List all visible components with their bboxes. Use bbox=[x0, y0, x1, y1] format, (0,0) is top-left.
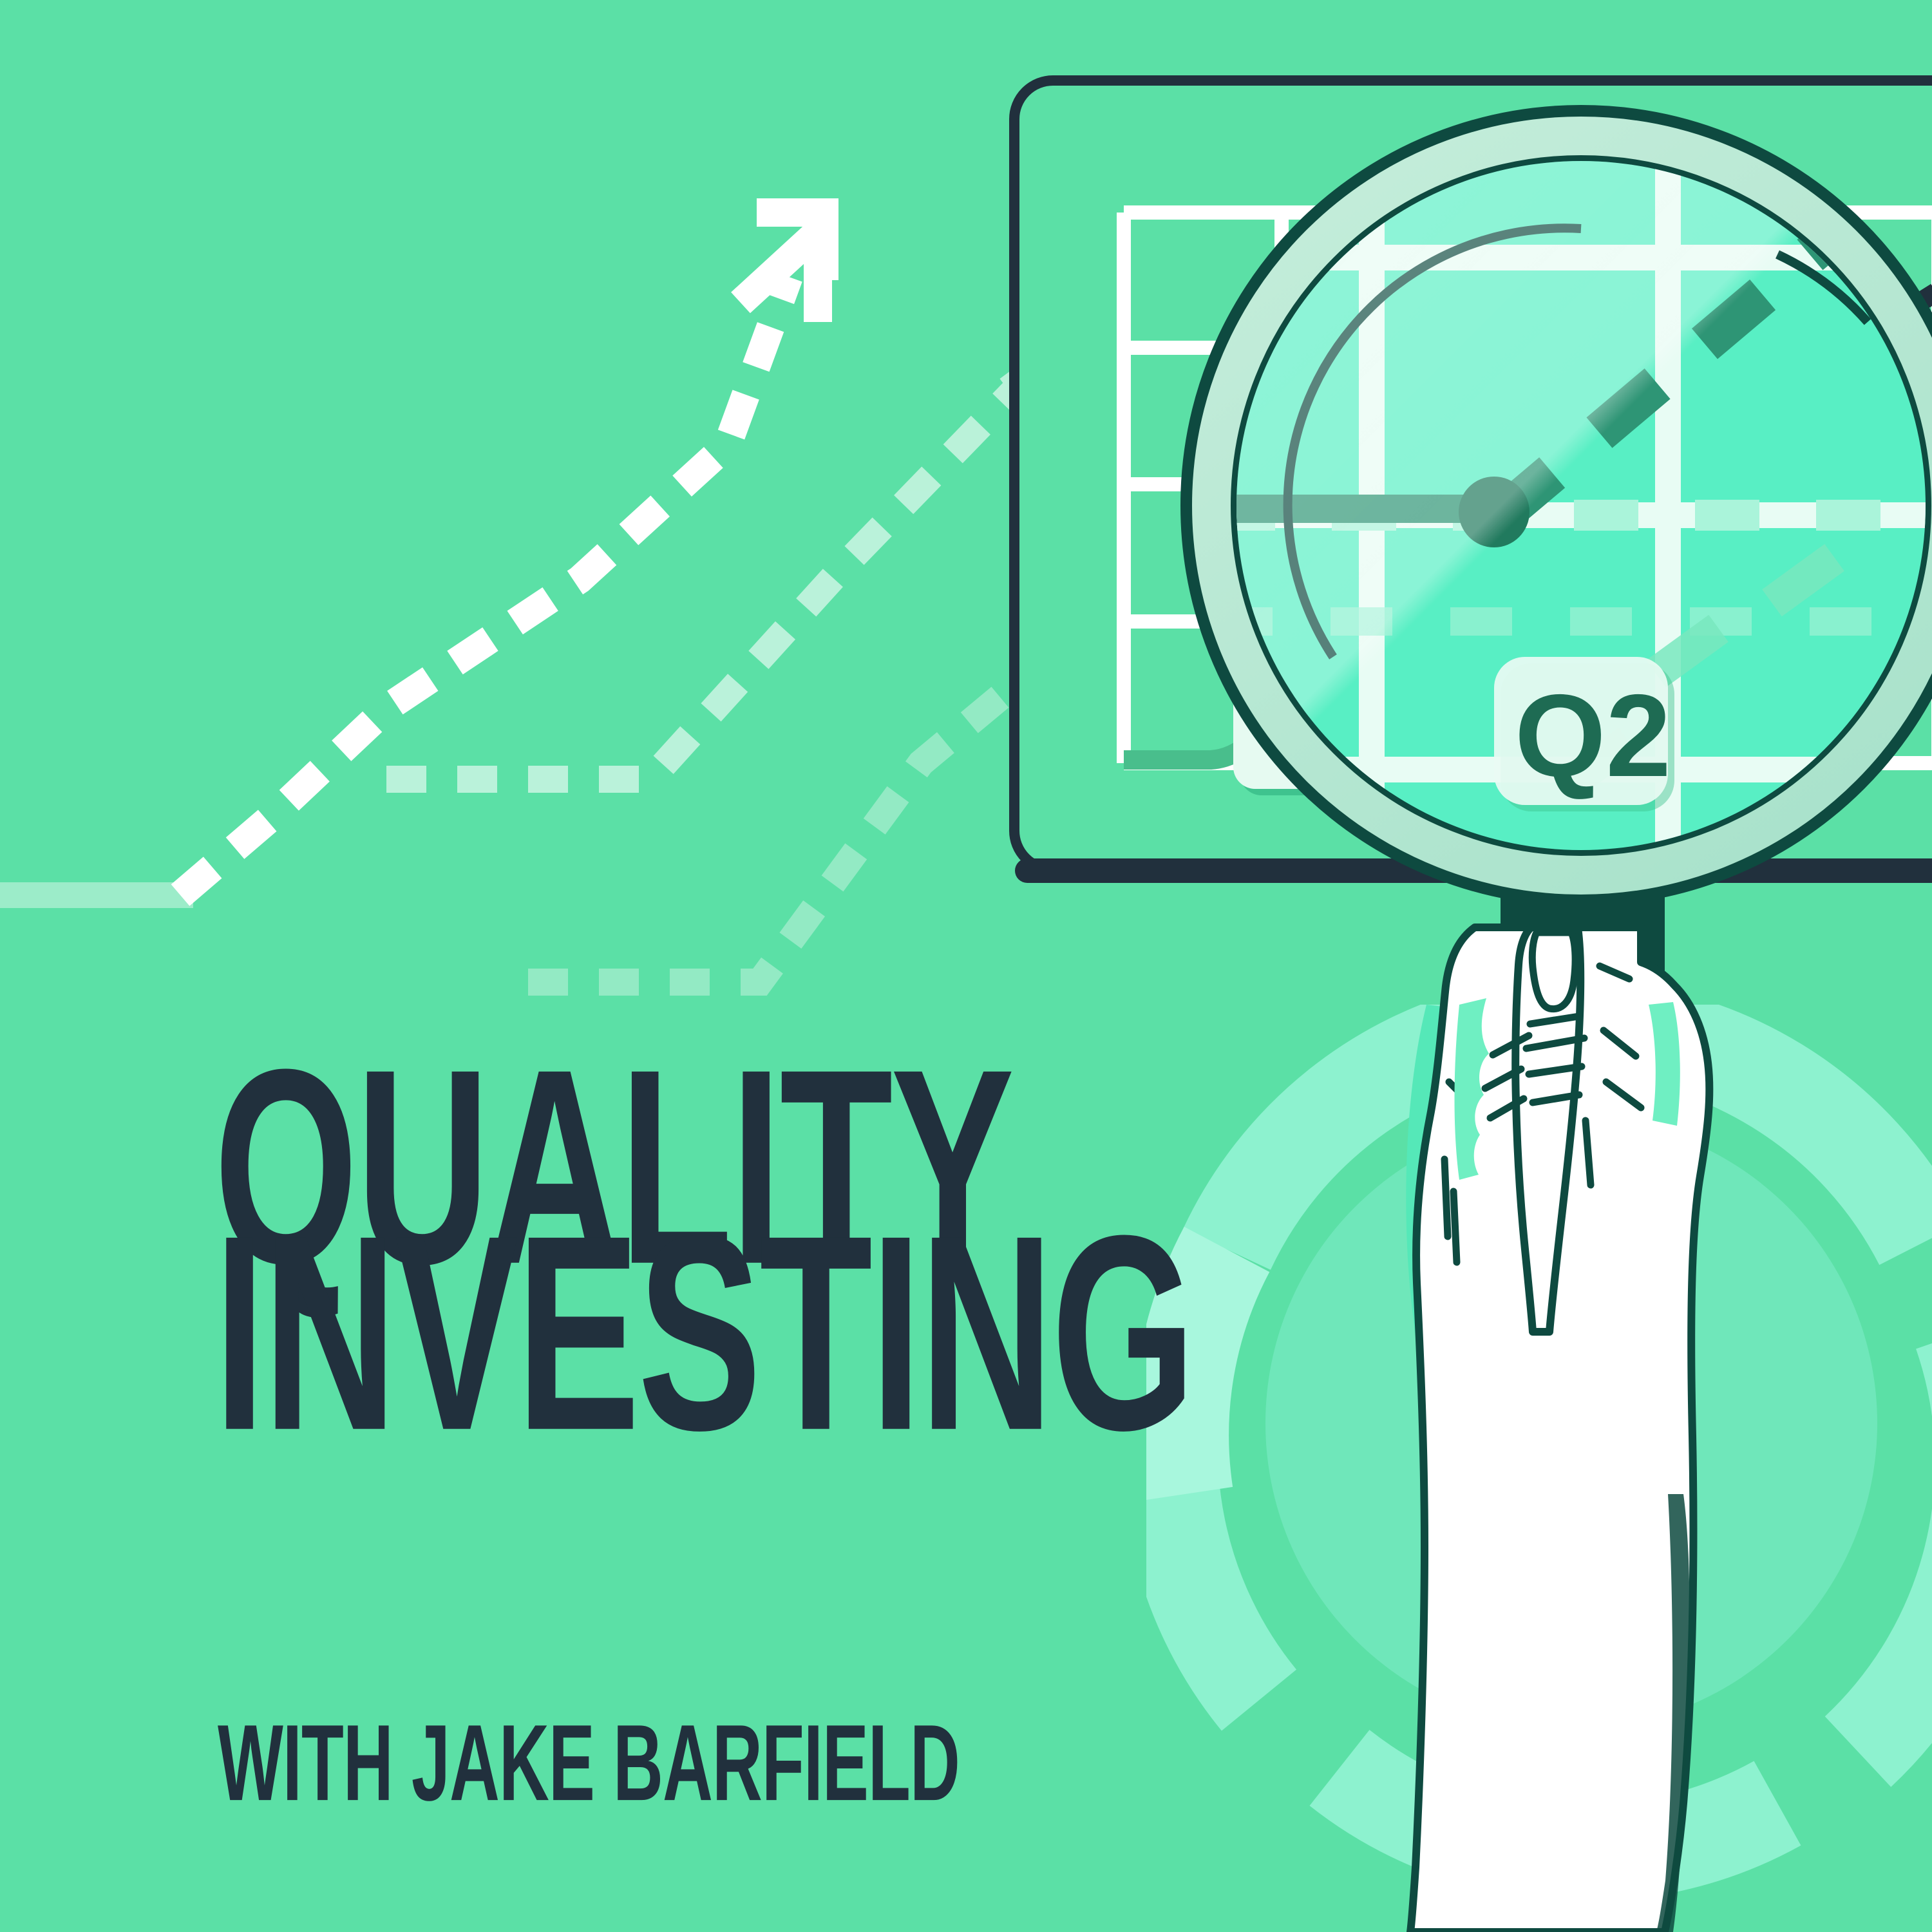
hand-thumbnail bbox=[1532, 933, 1575, 1009]
podcast-cover-art: Q bbox=[0, 0, 1932, 1932]
label-card-q2: Q2 bbox=[1494, 657, 1674, 811]
hand-holding-icon bbox=[1406, 927, 1709, 1932]
label-q2-text: Q2 bbox=[1515, 670, 1671, 801]
cover-illustration: Q bbox=[0, 0, 1932, 1932]
